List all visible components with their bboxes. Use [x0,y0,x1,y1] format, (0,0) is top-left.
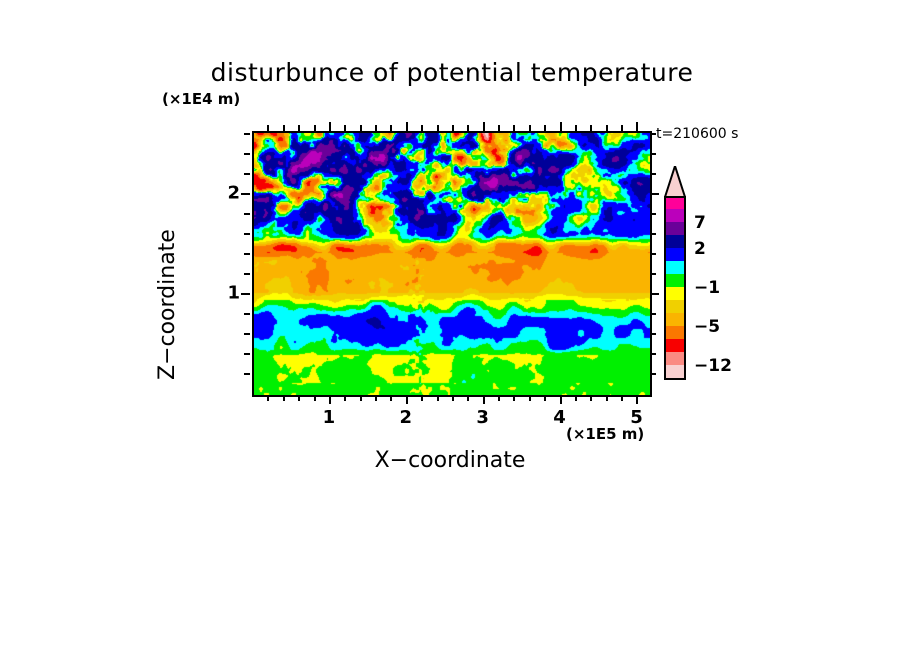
x-tick-mark-top [498,125,500,131]
x-tick-mark-top [298,125,300,131]
x-tick-mark [406,395,408,404]
x-tick-mark [283,395,285,401]
colorbar-tick-label: 7 [694,213,706,233]
y-tick-mark [244,273,250,275]
x-tick-mark [590,395,592,401]
x-tick-mark [606,395,608,401]
x-tick-mark [529,395,531,401]
contour-figure: disturbunce of potential temperature (×1… [0,0,904,654]
x-tick-mark [314,395,316,401]
x-tick-mark [513,395,515,401]
x-unit-label: (×1E5 m) [566,425,644,443]
x-tick-mark-top [575,125,577,131]
x-tick-mark [390,395,392,401]
y-tick-mark-right [650,173,656,175]
x-tick-mark-top [544,125,546,131]
y-tick-mark-right [650,293,659,295]
y-tick-mark [244,233,250,235]
time-stamp-label: t=210600 s [656,126,738,142]
x-tick-mark-top [329,122,331,131]
y-tick-mark-right [650,373,656,375]
x-tick-label: 1 [323,407,336,428]
colorbar[interactable] [664,196,686,380]
x-tick-mark-top [390,125,392,131]
plot-area [252,131,652,397]
y-tick-mark-right [650,273,656,275]
x-tick-mark-top [621,125,623,131]
x-tick-mark-top [483,122,485,131]
page-title: disturbunce of potential temperature [0,58,904,87]
x-tick-mark-top [437,125,439,131]
y-tick-mark [244,313,250,315]
x-axis-title: X−coordinate [252,448,648,473]
y-tick-mark-right [650,353,656,355]
y-tick-mark-right [650,153,656,155]
y-tick-mark [241,293,250,295]
x-tick-label: 4 [553,407,566,428]
colorbar-tick-label: −12 [694,356,732,376]
y-tick-mark-right [650,213,656,215]
y-axis-title: Z−coordinate [155,160,180,380]
y-tick-label: 1 [218,283,240,304]
z-unit-label: (×1E4 m) [162,90,240,108]
colorbar-tick-label: −1 [694,278,720,298]
y-tick-mark-right [650,313,656,315]
x-tick-mark [636,395,638,404]
y-tick-mark-right [650,253,656,255]
x-tick-mark [467,395,469,401]
x-tick-mark-top [360,125,362,131]
x-tick-mark [544,395,546,401]
y-tick-mark-right [650,193,659,195]
x-tick-mark [437,395,439,401]
y-tick-mark [244,253,250,255]
x-tick-mark-top [590,125,592,131]
x-tick-mark-top [529,125,531,131]
y-tick-mark [244,213,250,215]
colorbar-tick-label: −5 [694,317,720,337]
y-tick-mark [244,133,250,135]
y-tick-mark [244,333,250,335]
x-tick-mark-top [344,125,346,131]
x-tick-mark [421,395,423,401]
x-tick-mark-top [283,125,285,131]
x-tick-mark-top [375,125,377,131]
x-tick-label: 2 [400,407,413,428]
y-tick-mark-right [650,133,656,135]
y-tick-mark [244,153,250,155]
x-tick-mark [329,395,331,404]
x-tick-mark [375,395,377,401]
x-tick-mark [560,395,562,404]
y-tick-mark [244,353,250,355]
colorbar-tick-label: 2 [694,239,706,259]
x-tick-mark [298,395,300,401]
x-tick-mark [621,395,623,401]
x-tick-mark-top [267,125,269,131]
x-tick-mark [498,395,500,401]
x-tick-mark-top [452,125,454,131]
y-tick-mark [244,173,250,175]
x-tick-mark [360,395,362,401]
x-tick-mark-top [606,125,608,131]
x-tick-mark [575,395,577,401]
x-tick-mark [483,395,485,404]
x-tick-mark-top [421,125,423,131]
colorbar-arrow-icon [664,166,686,198]
y-tick-mark [244,373,250,375]
colorbar-band-pale-pink [664,365,686,380]
x-tick-label: 3 [476,407,489,428]
x-tick-mark [452,395,454,401]
y-tick-mark-right [650,233,656,235]
x-tick-mark [344,395,346,401]
x-tick-mark-top [467,125,469,131]
x-tick-mark-top [314,125,316,131]
x-tick-mark-top [560,122,562,131]
y-tick-label: 2 [218,183,240,204]
x-tick-mark-top [636,122,638,131]
x-tick-mark-top [406,122,408,131]
y-tick-mark [241,193,250,195]
y-tick-mark-right [650,333,656,335]
x-tick-mark-top [513,125,515,131]
x-tick-mark [267,395,269,401]
contour-field-canvas [254,133,650,395]
